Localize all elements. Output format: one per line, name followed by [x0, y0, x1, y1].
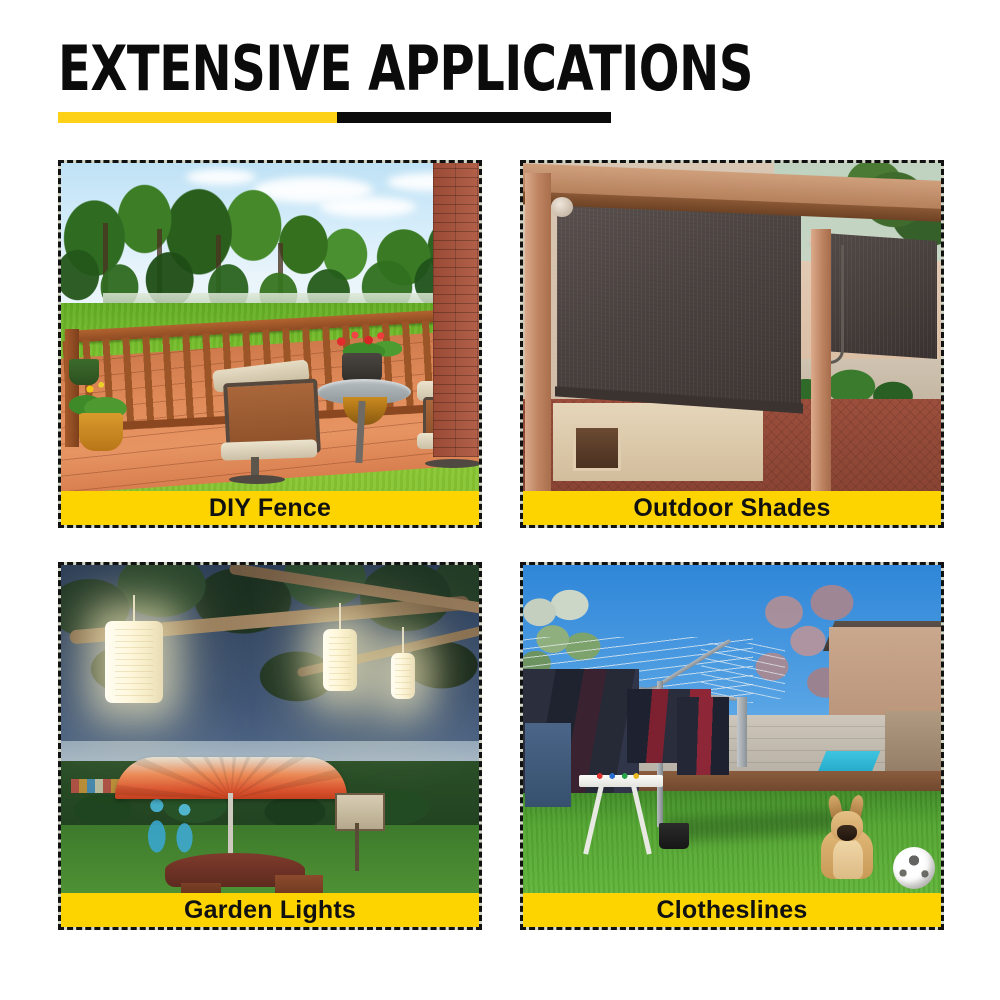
photo-outdoor-shades [523, 163, 941, 491]
wooden-bench [181, 883, 221, 893]
dog-muzzle [837, 825, 857, 841]
scene-patio-shades [523, 163, 941, 491]
hanging-lantern-medium [323, 629, 357, 691]
garden-figures [137, 793, 203, 863]
lantern-body [391, 653, 415, 699]
window [573, 425, 621, 471]
hanging-jeans [525, 723, 571, 807]
chair-foot [229, 475, 285, 484]
dog-chest [833, 839, 863, 879]
photo-clotheslines [523, 565, 941, 893]
hanging-laundry-right [677, 697, 729, 775]
chair-foot [425, 459, 479, 468]
photo-garden-lights [61, 565, 479, 893]
hanging-lantern-small [391, 653, 415, 699]
caption-label: Clotheslines [656, 898, 807, 923]
caption-bar-diy-fence: DIY Fence [61, 491, 479, 525]
header: EXTENSIVE APPLICATIONS [58, 38, 942, 100]
page-title: EXTENSIVE APPLICATIONS [58, 38, 818, 100]
title-divider-black-segment [337, 112, 611, 123]
pergola-post-middle [811, 229, 831, 491]
application-panel-clotheslines: Clotheslines [520, 562, 944, 930]
photo-diy-fence [61, 163, 479, 491]
roller-shade-screen-near [557, 194, 801, 411]
folding-table-legs [583, 785, 659, 847]
pergola-post-left [525, 173, 551, 491]
roller-end-cap [551, 197, 573, 217]
terracotta-pot [79, 413, 123, 451]
patio-chair-left [211, 363, 317, 475]
caption-bar-clotheslines: Clotheslines [523, 893, 941, 927]
caption-bar-outdoor-shades: Outdoor Shades [523, 491, 941, 525]
distant-water [103, 293, 454, 303]
application-panel-diy-fence: DIY Fence [58, 160, 482, 528]
board-game-pieces [593, 771, 641, 781]
black-bucket [659, 823, 689, 849]
lantern-cord [133, 595, 135, 623]
lantern-cord [339, 603, 341, 631]
dog [817, 795, 879, 879]
chair-seat [221, 439, 318, 460]
caption-label: DIY Fence [209, 496, 331, 521]
scene-deck [61, 163, 479, 491]
scene-backyard [523, 565, 941, 893]
lantern-cord [402, 627, 404, 655]
lantern-body [323, 629, 357, 691]
garden-signboard [335, 793, 385, 831]
hanging-lantern-large [105, 621, 163, 703]
caption-label: Garden Lights [184, 898, 356, 923]
application-panel-outdoor-shades: Outdoor Shades [520, 160, 944, 528]
metal-chimney-pipe [737, 697, 747, 767]
brick-wall [433, 163, 479, 457]
soccer-ball [893, 847, 935, 889]
title-divider-yellow-segment [58, 112, 337, 123]
application-panel-garden-lights: Garden Lights [58, 562, 482, 930]
title-divider-rule [58, 112, 611, 123]
application-panel-grid: DIY Fence [58, 160, 944, 930]
wooden-bench [275, 875, 323, 893]
infographic-page: EXTENSIVE APPLICATIONS [0, 0, 1000, 1000]
caption-bar-garden-lights: Garden Lights [61, 893, 479, 927]
signboard-post [355, 823, 359, 871]
lantern-body [105, 621, 163, 703]
scene-night-garden [61, 565, 479, 893]
caption-label: Outdoor Shades [633, 496, 830, 521]
